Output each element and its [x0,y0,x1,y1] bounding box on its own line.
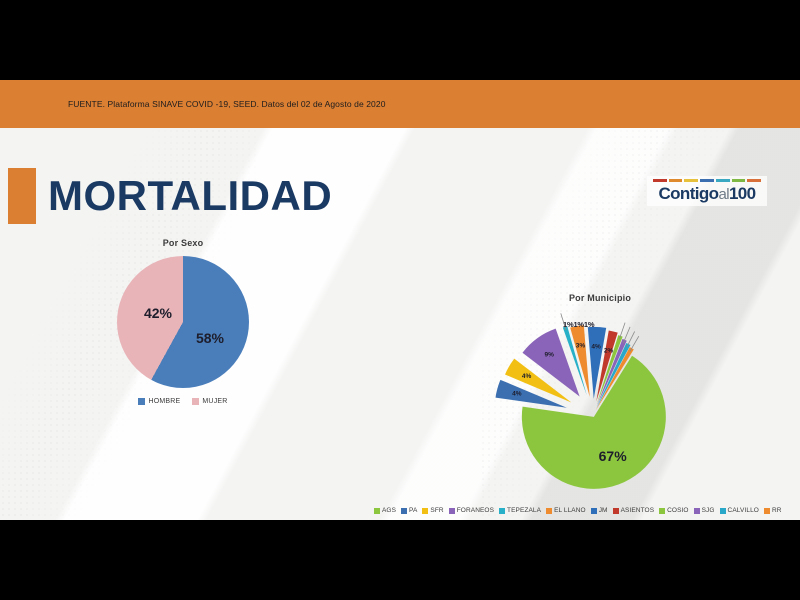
legend-label-jm: JM [599,507,608,514]
legend-item-jm: JM [591,507,608,514]
logo-wordmark: Contigoal100 [649,185,765,204]
legend-swatch-rr [764,508,770,514]
page-title: MORTALIDAD [48,172,332,220]
slide-body: MORTALIDAD Contigoal100 Por Sexo 58% 42% [0,128,800,528]
logo-bar-7 [747,179,761,182]
legend-label-pa: PA [409,507,417,514]
pie-slice-label-ags: 67% [599,448,628,464]
legend-swatch-sjg [694,508,700,514]
legend-label-mujer: MUJER [202,398,227,405]
legend-swatch-calvillo [720,508,726,514]
pie-slice-label-hombre: 58% [196,330,224,346]
legend-item-calvillo: CALVILLO [720,507,759,514]
contigo-al-100-logo: Contigoal100 [647,176,767,206]
logo-word-contigo: Contigo [658,184,718,203]
title-accent-bar [8,168,36,224]
logo-bar-1 [653,179,667,182]
logo-word-al: al [718,186,728,203]
chart-por-sexo-title: Por Sexo [88,238,278,248]
chart-por-municipio: Por Municipio 67%4%4%9%3%4%2% [470,293,730,507]
logo-bar-3 [684,179,698,182]
legend-swatch-ags [374,508,380,514]
legend-por-sexo: HOMBRE MUJER [88,398,278,405]
logo-bar-6 [732,179,746,182]
legend-swatch-hombre [138,398,145,405]
legend-item-sjg: SJG [694,507,715,514]
legend-item-pa: PA [401,507,417,514]
legend-item-ags: AGS [374,507,396,514]
legend-item-tepezala: TEPEZALA [499,507,541,514]
legend-item-cosio: COSIO [659,507,688,514]
chart-por-municipio-title: Por Municipio [470,293,730,303]
logo-bar-4 [700,179,714,182]
legend-swatch-cosio [659,508,665,514]
legend-label-asientos: ASIENTOS [621,507,655,514]
legend-item-rr: RR [764,507,782,514]
legend-item-mujer: MUJER [192,398,227,405]
legend-label-rr: RR [772,507,782,514]
pie-slice-label-asientos: 2% [604,348,614,355]
pie-slice-label-foraneos: 9% [544,351,554,358]
pie-slice-label-sfr: 4% [522,373,532,380]
legend-item-hombre: HOMBRE [138,398,180,405]
legend-swatch-foraneos [449,508,455,514]
legend-label-tepezala: TEPEZALA [507,507,541,514]
legend-label-sjg: SJG [702,507,715,514]
legend-swatch-asientos [613,508,619,514]
pie-slice-label-pa: 4% [512,391,522,398]
legend-swatch-mujer [192,398,199,405]
legend-swatch-el-llano [546,508,552,514]
legend-item-foraneos: FORANEOS [449,507,494,514]
pie-por-sexo-graphic [117,256,249,388]
legend-item-el-llano: EL LLANO [546,507,586,514]
pie-por-municipio-graphic: 67%4%4%9%3%4%2% [475,307,725,507]
legend-item-sfr: SFR [422,507,443,514]
letterbox-top [0,0,800,80]
legend-swatch-sfr [422,508,428,514]
legend-label-sfr: SFR [430,507,443,514]
legend-label-cosio: COSIO [667,507,688,514]
legend-swatch-tepezala [499,508,505,514]
pie-por-municipio-top-labels: 1%1%1% [563,320,594,329]
legend-label-ags: AGS [382,507,396,514]
chart-por-sexo: Por Sexo 58% 42% HOMBRE MUJER [88,238,278,405]
logo-bar-5 [716,179,730,182]
logo-bar-2 [669,179,683,182]
pie-slice-label-jm: 4% [591,344,601,351]
legend-swatch-pa [401,508,407,514]
legend-swatch-jm [591,508,597,514]
pie-slice-label-el-llano: 3% [576,343,586,350]
logo-word-100: 100 [729,184,756,203]
legend-por-municipio: AGSPASFRFORANEOSTEPEZALAEL LLANOJMASIENT… [374,507,800,514]
pie-slice-label-mujer: 42% [144,305,172,321]
source-text: FUENTE. Plataforma SINAVE COVID -19, SEE… [68,99,386,109]
source-band: FUENTE. Plataforma SINAVE COVID -19, SEE… [0,80,800,128]
slide-screenshot: FUENTE. Plataforma SINAVE COVID -19, SEE… [0,0,800,600]
pie-slice-foraneos [522,329,579,397]
logo-color-bars [653,179,761,182]
legend-item-asientos: ASIENTOS [613,507,655,514]
pie-por-sexo: 58% 42% [88,256,278,388]
legend-label-hombre: HOMBRE [148,398,180,405]
letterbox-bottom [0,520,800,600]
legend-label-foraneos: FORANEOS [457,507,494,514]
legend-label-el-llano: EL LLANO [554,507,586,514]
legend-label-calvillo: CALVILLO [728,507,759,514]
